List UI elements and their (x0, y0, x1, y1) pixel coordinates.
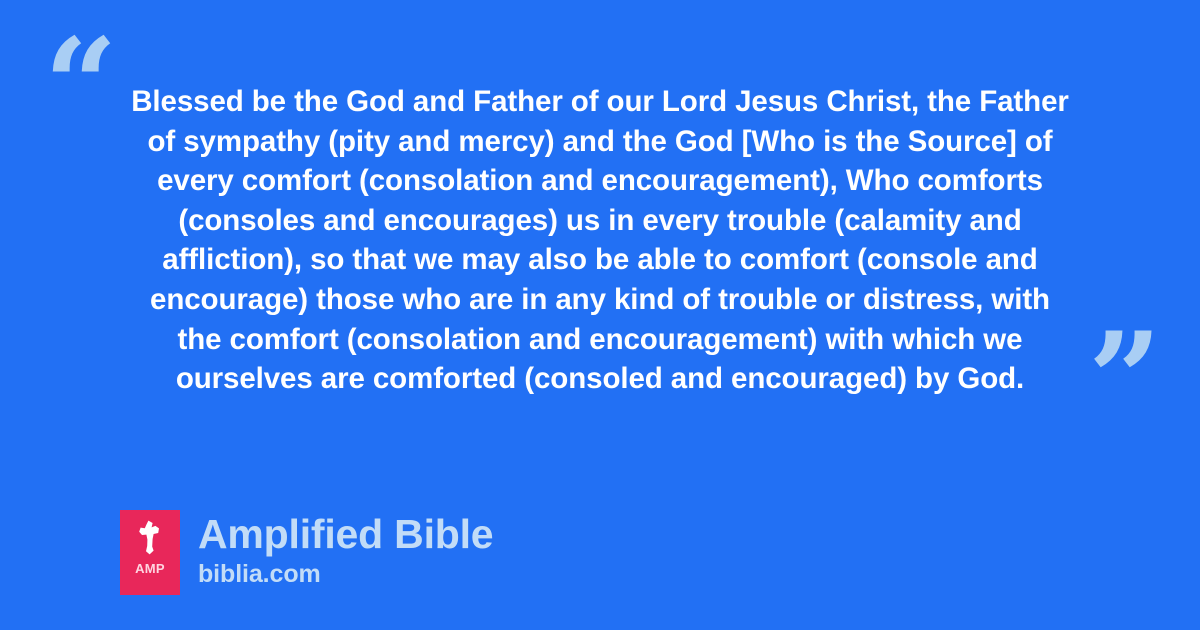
verse-share-card: “ Blessed be the God and Father of our L… (0, 0, 1200, 630)
bible-version-title: Amplified Bible (198, 511, 493, 557)
quote-line: of sympathy (pity and mercy) and the God… (110, 122, 1090, 162)
quote-line: the comfort (consolation and encourageme… (110, 320, 1090, 360)
quote-line: affliction), so that we may also be able… (110, 240, 1090, 280)
cross-icon (135, 519, 165, 557)
quote-line: ourselves are comforted (consoled and en… (110, 359, 1090, 399)
site-url[interactable]: biblia.com (198, 559, 493, 589)
brand-footer: AMP Amplified Bible biblia.com (120, 510, 493, 595)
quote-line: Blessed be the God and Father of our Lor… (110, 82, 1090, 122)
quote-line: encourage) those who are in any kind of … (110, 280, 1090, 320)
brand-text-group: Amplified Bible biblia.com (198, 510, 493, 589)
quote-line: (consoles and encourages) us in every tr… (110, 201, 1090, 241)
amp-badge: AMP (120, 510, 180, 595)
badge-abbreviation: AMP (135, 562, 165, 575)
quote-body: Blessed be the God and Father of our Lor… (110, 82, 1090, 399)
opening-quote-icon: “ (44, 22, 118, 150)
quote-line: every comfort (consolation and encourage… (110, 161, 1090, 201)
closing-quote-icon: ” (1088, 316, 1162, 444)
